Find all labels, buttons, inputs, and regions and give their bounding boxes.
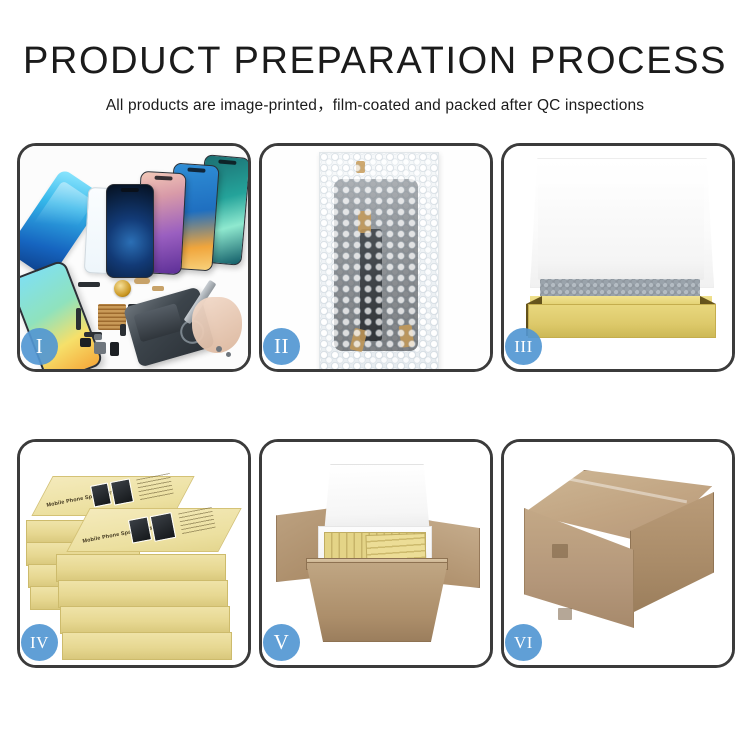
white-foam-sheet-icon [538,184,704,280]
small-part-icon [134,278,150,284]
carton-body-icon [306,562,448,642]
step-badge-1: I [21,328,58,365]
process-step-panel-3: III [501,143,735,372]
stacked-box [58,580,228,608]
adhesive-tab-icon [358,211,371,233]
process-step-panel-1: I [17,143,251,372]
camera-module-icon [94,342,106,354]
small-part-icon [78,282,100,287]
flex-cable-icon [76,308,81,330]
stacked-box [62,632,232,660]
process-step-panel-2: II [259,143,493,372]
screw-icon [216,346,222,352]
product-photo-icon [110,478,134,505]
carton-flap-tab [552,544,568,558]
product-photo-icon [128,516,152,543]
page-header: PRODUCT PREPARATION PROCESS All products… [0,0,750,115]
page-subtitle: All products are image-printed，film-coat… [0,93,750,115]
styrofoam-lid-icon [324,464,430,534]
small-part-icon [152,286,164,291]
process-steps-grid: I II [17,143,735,668]
notch-icon [187,168,205,173]
screw-icon [226,352,231,357]
step-badge-6: VI [505,624,542,661]
step-badge-5: V [263,624,300,661]
step-badge-3: III [505,328,542,365]
phone-front-panel-icon [106,184,154,278]
wrapped-flex-cable-icon [360,229,382,341]
small-part-icon [94,334,102,340]
adhesive-tab-icon [356,161,365,173]
kraft-box-base-icon [528,304,716,338]
stacked-box [60,606,230,634]
bubble-wrap-pouch-icon [319,152,439,369]
notch-icon [218,159,236,165]
small-part-icon [80,338,91,347]
process-step-panel-5: V [259,439,493,668]
copper-coil-part-icon [114,280,131,297]
product-photo-icon [150,512,177,542]
small-part-icon [110,342,119,356]
process-step-panel-4: Mobile Phone Spare Parts Mobile Phone Sp… [17,439,251,668]
step-badge-4: IV [21,624,58,661]
notch-icon [154,176,172,181]
technician-hand-icon [192,297,242,353]
notch-icon [121,188,139,192]
small-part-icon [120,324,126,336]
product-photo-icon [90,482,112,507]
process-step-panel-6: VI [501,439,735,668]
carton-flap-tab [558,608,572,620]
page-title: PRODUCT PREPARATION PROCESS [0,40,750,82]
stacked-box [56,554,226,582]
step-badge-2: II [263,328,300,365]
